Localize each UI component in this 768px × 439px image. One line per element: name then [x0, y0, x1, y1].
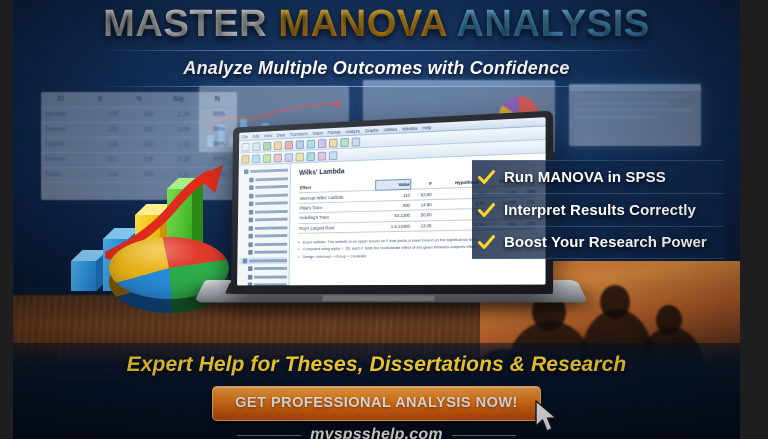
spreadsheet-header-row: ID X % Sig N	[41, 92, 237, 108]
cell-f: 50.60	[411, 210, 433, 221]
cell: 118	[130, 108, 166, 122]
spss-output-tree[interactable]	[237, 164, 291, 286]
banner-frame: ID X % Sig N Variable 120 118 1.14 95% T…	[0, 0, 768, 439]
tree-node[interactable]	[240, 191, 288, 199]
tree-node[interactable]	[240, 199, 288, 207]
cell: 1.14	[166, 108, 202, 122]
tree-node[interactable]	[240, 175, 288, 183]
toolbar-icon-print[interactable]	[263, 141, 271, 150]
benefit-item-boost-power: Boost Your Research Power	[472, 226, 724, 259]
title-divider-top	[97, 50, 657, 51]
background-panel-right	[569, 84, 701, 146]
title-divider-bottom	[97, 86, 657, 87]
col-f: F	[411, 178, 433, 189]
tree-node[interactable]	[239, 273, 287, 280]
toolbar-icon-expand[interactable]	[318, 151, 326, 160]
cell: 1.02	[166, 138, 202, 152]
tree-node[interactable]	[239, 249, 287, 256]
cell: Variable	[41, 108, 95, 122]
cell-effect: Roy's Largest Root	[298, 221, 375, 233]
menu-item-graphs[interactable]: Graphs	[365, 127, 379, 133]
benefits-list: Run MANOVA in SPSS Interpret Results Cor…	[472, 160, 724, 259]
letterbox-left	[0, 0, 13, 439]
menu-item-format[interactable]: Format	[327, 129, 340, 134]
toolbar-icon-weight[interactable]	[352, 137, 361, 146]
cell: 128	[95, 138, 131, 152]
banner-stage: ID X % Sig N Variable 120 118 1.14 95% T…	[13, 0, 740, 439]
tree-node[interactable]	[240, 216, 288, 224]
check-icon	[478, 170, 495, 185]
toolbar-icon-split[interactable]	[340, 137, 349, 146]
toolbar-icon-export[interactable]	[274, 153, 282, 162]
banner-header: MASTER MANOVA ANALYSIS Analyze Multiple …	[13, 0, 740, 87]
cta-button[interactable]: GET PROFESSIONAL ANALYSIS NOW!	[212, 386, 541, 421]
cell: 130	[130, 138, 166, 152]
benefit-item-run-manova: Run MANOVA in SPSS	[472, 160, 724, 193]
url-rule-left	[237, 435, 301, 436]
title-word-manova: MANOVA	[278, 3, 446, 45]
toolbar-icon-undo[interactable]	[285, 140, 293, 149]
toolbar-icon-save[interactable]	[252, 142, 260, 151]
toolbar-icon-demote[interactable]	[296, 152, 304, 161]
menu-item-view[interactable]: View	[264, 133, 273, 138]
toolbar-icon-redo[interactable]	[296, 140, 304, 149]
toolbar-icon-recall[interactable]	[274, 141, 282, 150]
menu-item-insert[interactable]: Insert	[313, 130, 323, 135]
toolbar-icon-promote[interactable]	[285, 153, 293, 162]
spreadsheet-header-cell: ID	[41, 92, 80, 107]
cell: Sample	[41, 153, 95, 167]
menu-item-utilities[interactable]: Utilities	[383, 126, 397, 132]
bar-1	[71, 261, 97, 291]
menu-item-transform[interactable]: Transform	[290, 131, 308, 137]
toolbar-icon-open[interactable]	[242, 142, 250, 151]
cell: Control	[41, 138, 95, 152]
benefit-item-interpret-results: Interpret Results Correctly	[472, 193, 724, 226]
cell-f: 13.05	[411, 220, 433, 231]
cell-f: 53.90	[411, 189, 433, 200]
toolbar-icon-chart[interactable]	[263, 154, 271, 163]
benefit-label: Interpret Results Correctly	[504, 202, 696, 219]
spreadsheet-header-cell: %	[119, 92, 158, 107]
toolbar-icon-insert-text[interactable]	[252, 154, 260, 163]
footer-url-row: myspsshelp.com	[13, 426, 740, 439]
benefit-label: Run MANOVA in SPSS	[504, 169, 666, 186]
cell: 133	[95, 123, 131, 137]
cell-value: 1.5.13400	[376, 221, 411, 232]
cell: 120	[95, 108, 131, 122]
tree-node[interactable]	[239, 232, 287, 240]
title-word-master: MASTER	[103, 3, 267, 45]
toolbar-icon-insert-title[interactable]	[241, 155, 249, 164]
check-icon	[478, 203, 495, 218]
footer-tagline: Expert Help for Theses, Dissertations & …	[13, 353, 740, 377]
letterbox-right	[740, 0, 768, 439]
cell-f: 14.80	[411, 199, 433, 210]
toolbar-icon-goto[interactable]	[307, 139, 315, 148]
menu-item-window[interactable]: Window	[402, 125, 417, 131]
tree-node[interactable]	[239, 281, 287, 285]
title-word-analysis: ANALYSIS	[456, 3, 649, 45]
check-icon	[478, 235, 495, 250]
benefit-label: Boost Your Research Power	[504, 234, 707, 251]
page-title: MASTER MANOVA ANALYSIS	[13, 4, 740, 45]
menu-item-analyze[interactable]: Analyze	[345, 128, 360, 134]
cta-wrapper: GET PROFESSIONAL ANALYSIS NOW!	[212, 386, 541, 421]
cell: Treated	[41, 123, 95, 137]
toolbar-icon-show-hide[interactable]	[329, 151, 338, 160]
tree-node[interactable]	[239, 240, 287, 247]
toolbar-icon-find[interactable]	[329, 138, 338, 147]
menu-item-edit[interactable]: Edit	[253, 133, 260, 138]
tree-node[interactable]	[239, 265, 287, 272]
spreadsheet-header-cell: N	[198, 92, 237, 107]
menu-item-data[interactable]: Data	[277, 132, 285, 137]
tree-node[interactable]	[240, 183, 288, 191]
footer-url[interactable]: myspsshelp.com	[310, 426, 443, 439]
toolbar-icon-variables[interactable]	[318, 139, 326, 148]
spreadsheet-header-cell: Sig	[159, 92, 198, 107]
cell: 1.08	[166, 123, 202, 137]
cell: 110	[130, 123, 166, 137]
tree-node[interactable]	[240, 167, 288, 176]
tree-node[interactable]	[240, 208, 288, 216]
tree-node-selected[interactable]	[239, 257, 287, 264]
laptop-trackpad[interactable]	[321, 295, 435, 301]
page-subtitle: Analyze Multiple Outcomes with Confidenc…	[13, 58, 740, 79]
tree-node[interactable]	[240, 224, 288, 232]
toolbar-icon-collapse[interactable]	[307, 152, 315, 161]
mouse-pointer-icon	[533, 399, 563, 435]
url-rule-right	[452, 435, 516, 436]
cell: Totals	[41, 168, 95, 182]
spreadsheet-header-cell: X	[80, 92, 119, 107]
menu-item-help[interactable]: Help	[422, 125, 431, 130]
banner-footer: Expert Help for Theses, Dissertations & …	[13, 343, 740, 439]
menu-item-file[interactable]: File	[242, 134, 248, 139]
